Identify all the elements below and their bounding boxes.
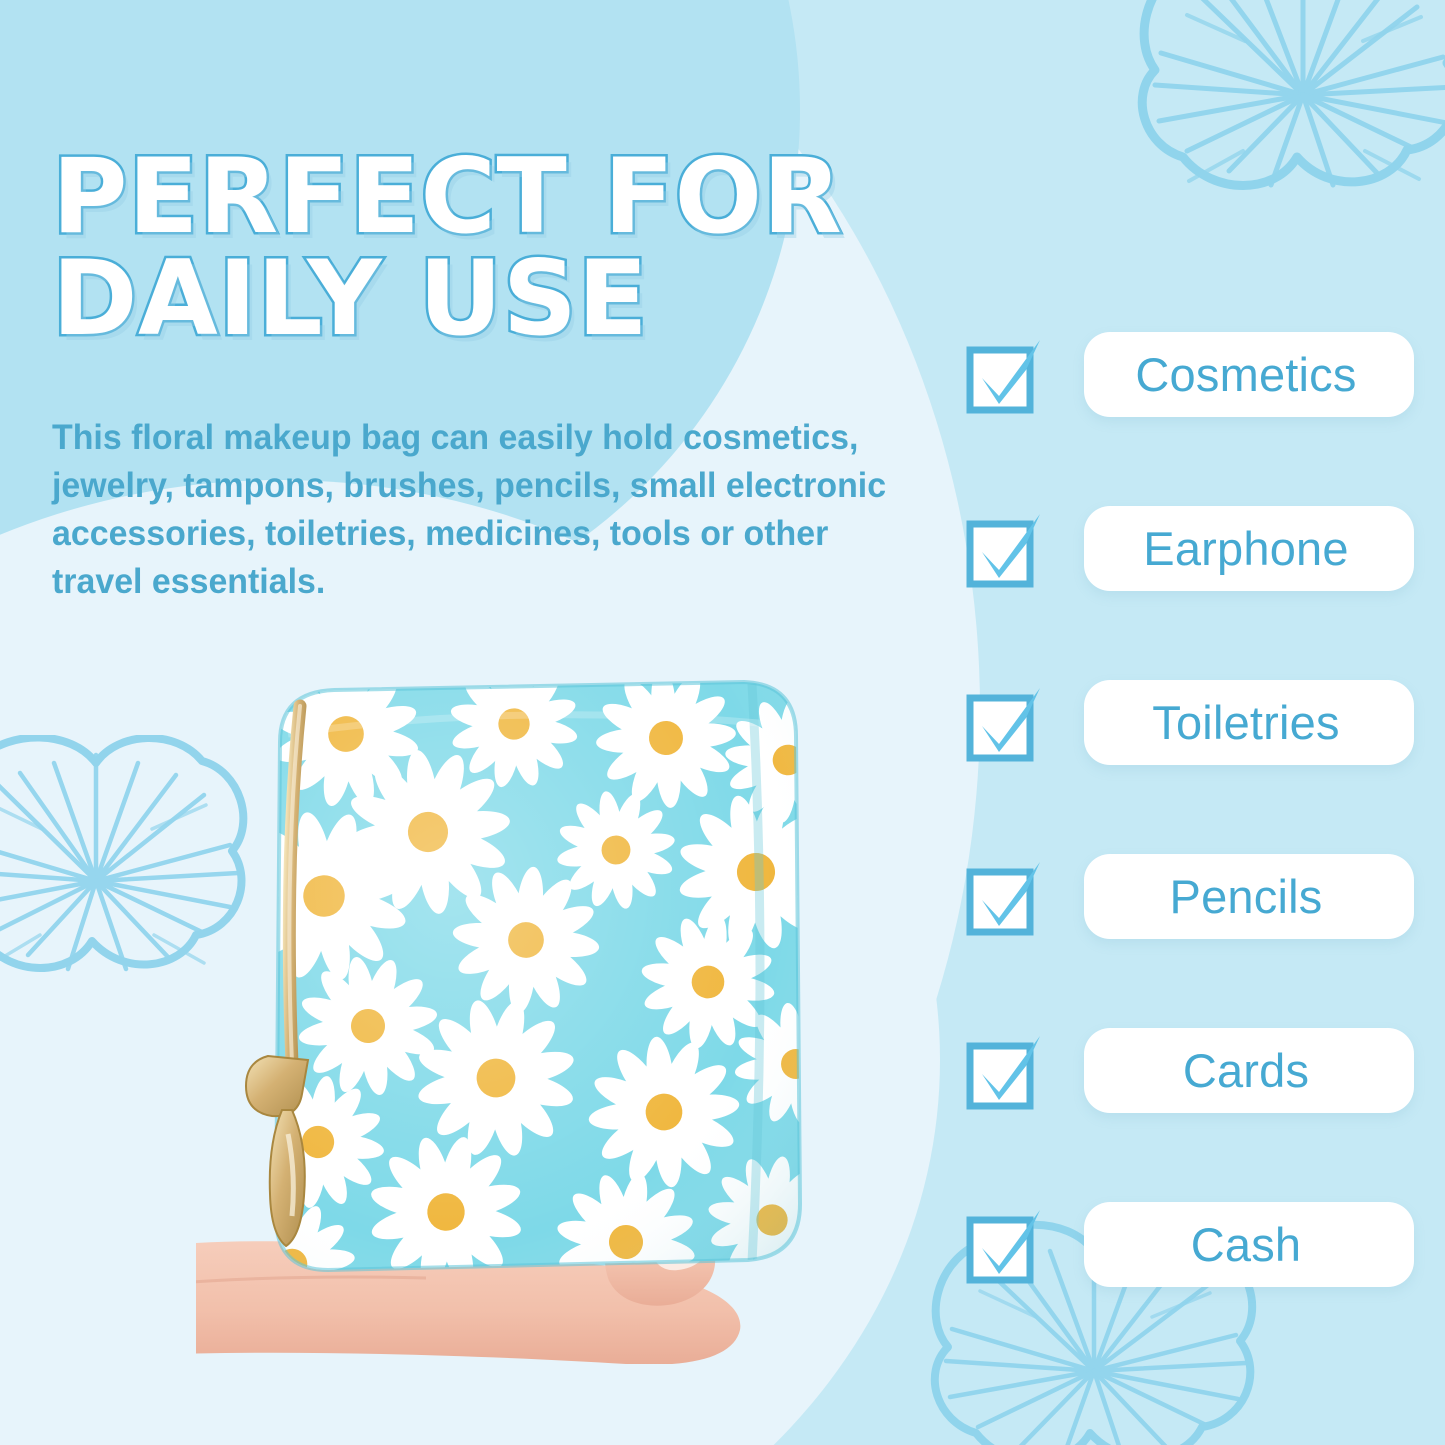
description-text: This floral makeup bag can easily hold c… bbox=[52, 413, 916, 606]
checkbox-checked-icon[interactable] bbox=[966, 680, 1044, 765]
checklist-label: Earphone bbox=[1143, 521, 1354, 576]
checklist-pill[interactable]: Earphone bbox=[1084, 506, 1414, 591]
checklist-item-cards[interactable]: Cards bbox=[966, 1028, 1414, 1113]
feature-checklist: Cosmetics Earphone Toiletr bbox=[966, 332, 1414, 1287]
headline-line-2: DAILY USE bbox=[52, 249, 1012, 351]
checklist-item-cosmetics[interactable]: Cosmetics bbox=[966, 332, 1414, 417]
hibiscus-flower-icon-top-right bbox=[1125, 0, 1445, 275]
page-title: PERFECT FOR DAILY USE bbox=[52, 147, 1012, 351]
checklist-pill[interactable]: Cards bbox=[1084, 1028, 1414, 1113]
checklist-label: Cards bbox=[1183, 1043, 1315, 1098]
checklist-item-pencils[interactable]: Pencils bbox=[966, 854, 1414, 939]
checklist-label: Cosmetics bbox=[1135, 347, 1362, 402]
checklist-item-earphone[interactable]: Earphone bbox=[966, 506, 1414, 591]
checkbox-checked-icon[interactable] bbox=[966, 506, 1044, 591]
product-image bbox=[196, 664, 836, 1364]
checklist-label: Toiletries bbox=[1152, 695, 1345, 750]
checkbox-checked-icon[interactable] bbox=[966, 854, 1044, 939]
checklist-pill[interactable]: Toiletries bbox=[1084, 680, 1414, 765]
checkbox-checked-icon[interactable] bbox=[966, 332, 1044, 417]
checklist-label: Pencils bbox=[1170, 869, 1329, 924]
checklist-pill[interactable]: Pencils bbox=[1084, 854, 1414, 939]
checklist-item-toiletries[interactable]: Toiletries bbox=[966, 680, 1414, 765]
checklist-label: Cash bbox=[1191, 1217, 1308, 1272]
checklist-item-cash[interactable]: Cash bbox=[966, 1202, 1414, 1287]
checkbox-checked-icon[interactable] bbox=[966, 1202, 1044, 1287]
product-infographic: PERFECT FOR DAILY USE This floral makeup… bbox=[0, 0, 1445, 1445]
checkbox-checked-icon[interactable] bbox=[966, 1028, 1044, 1113]
checklist-pill[interactable]: Cash bbox=[1084, 1202, 1414, 1287]
checklist-pill[interactable]: Cosmetics bbox=[1084, 332, 1414, 417]
headline-line-1: PERFECT FOR bbox=[52, 147, 1012, 249]
